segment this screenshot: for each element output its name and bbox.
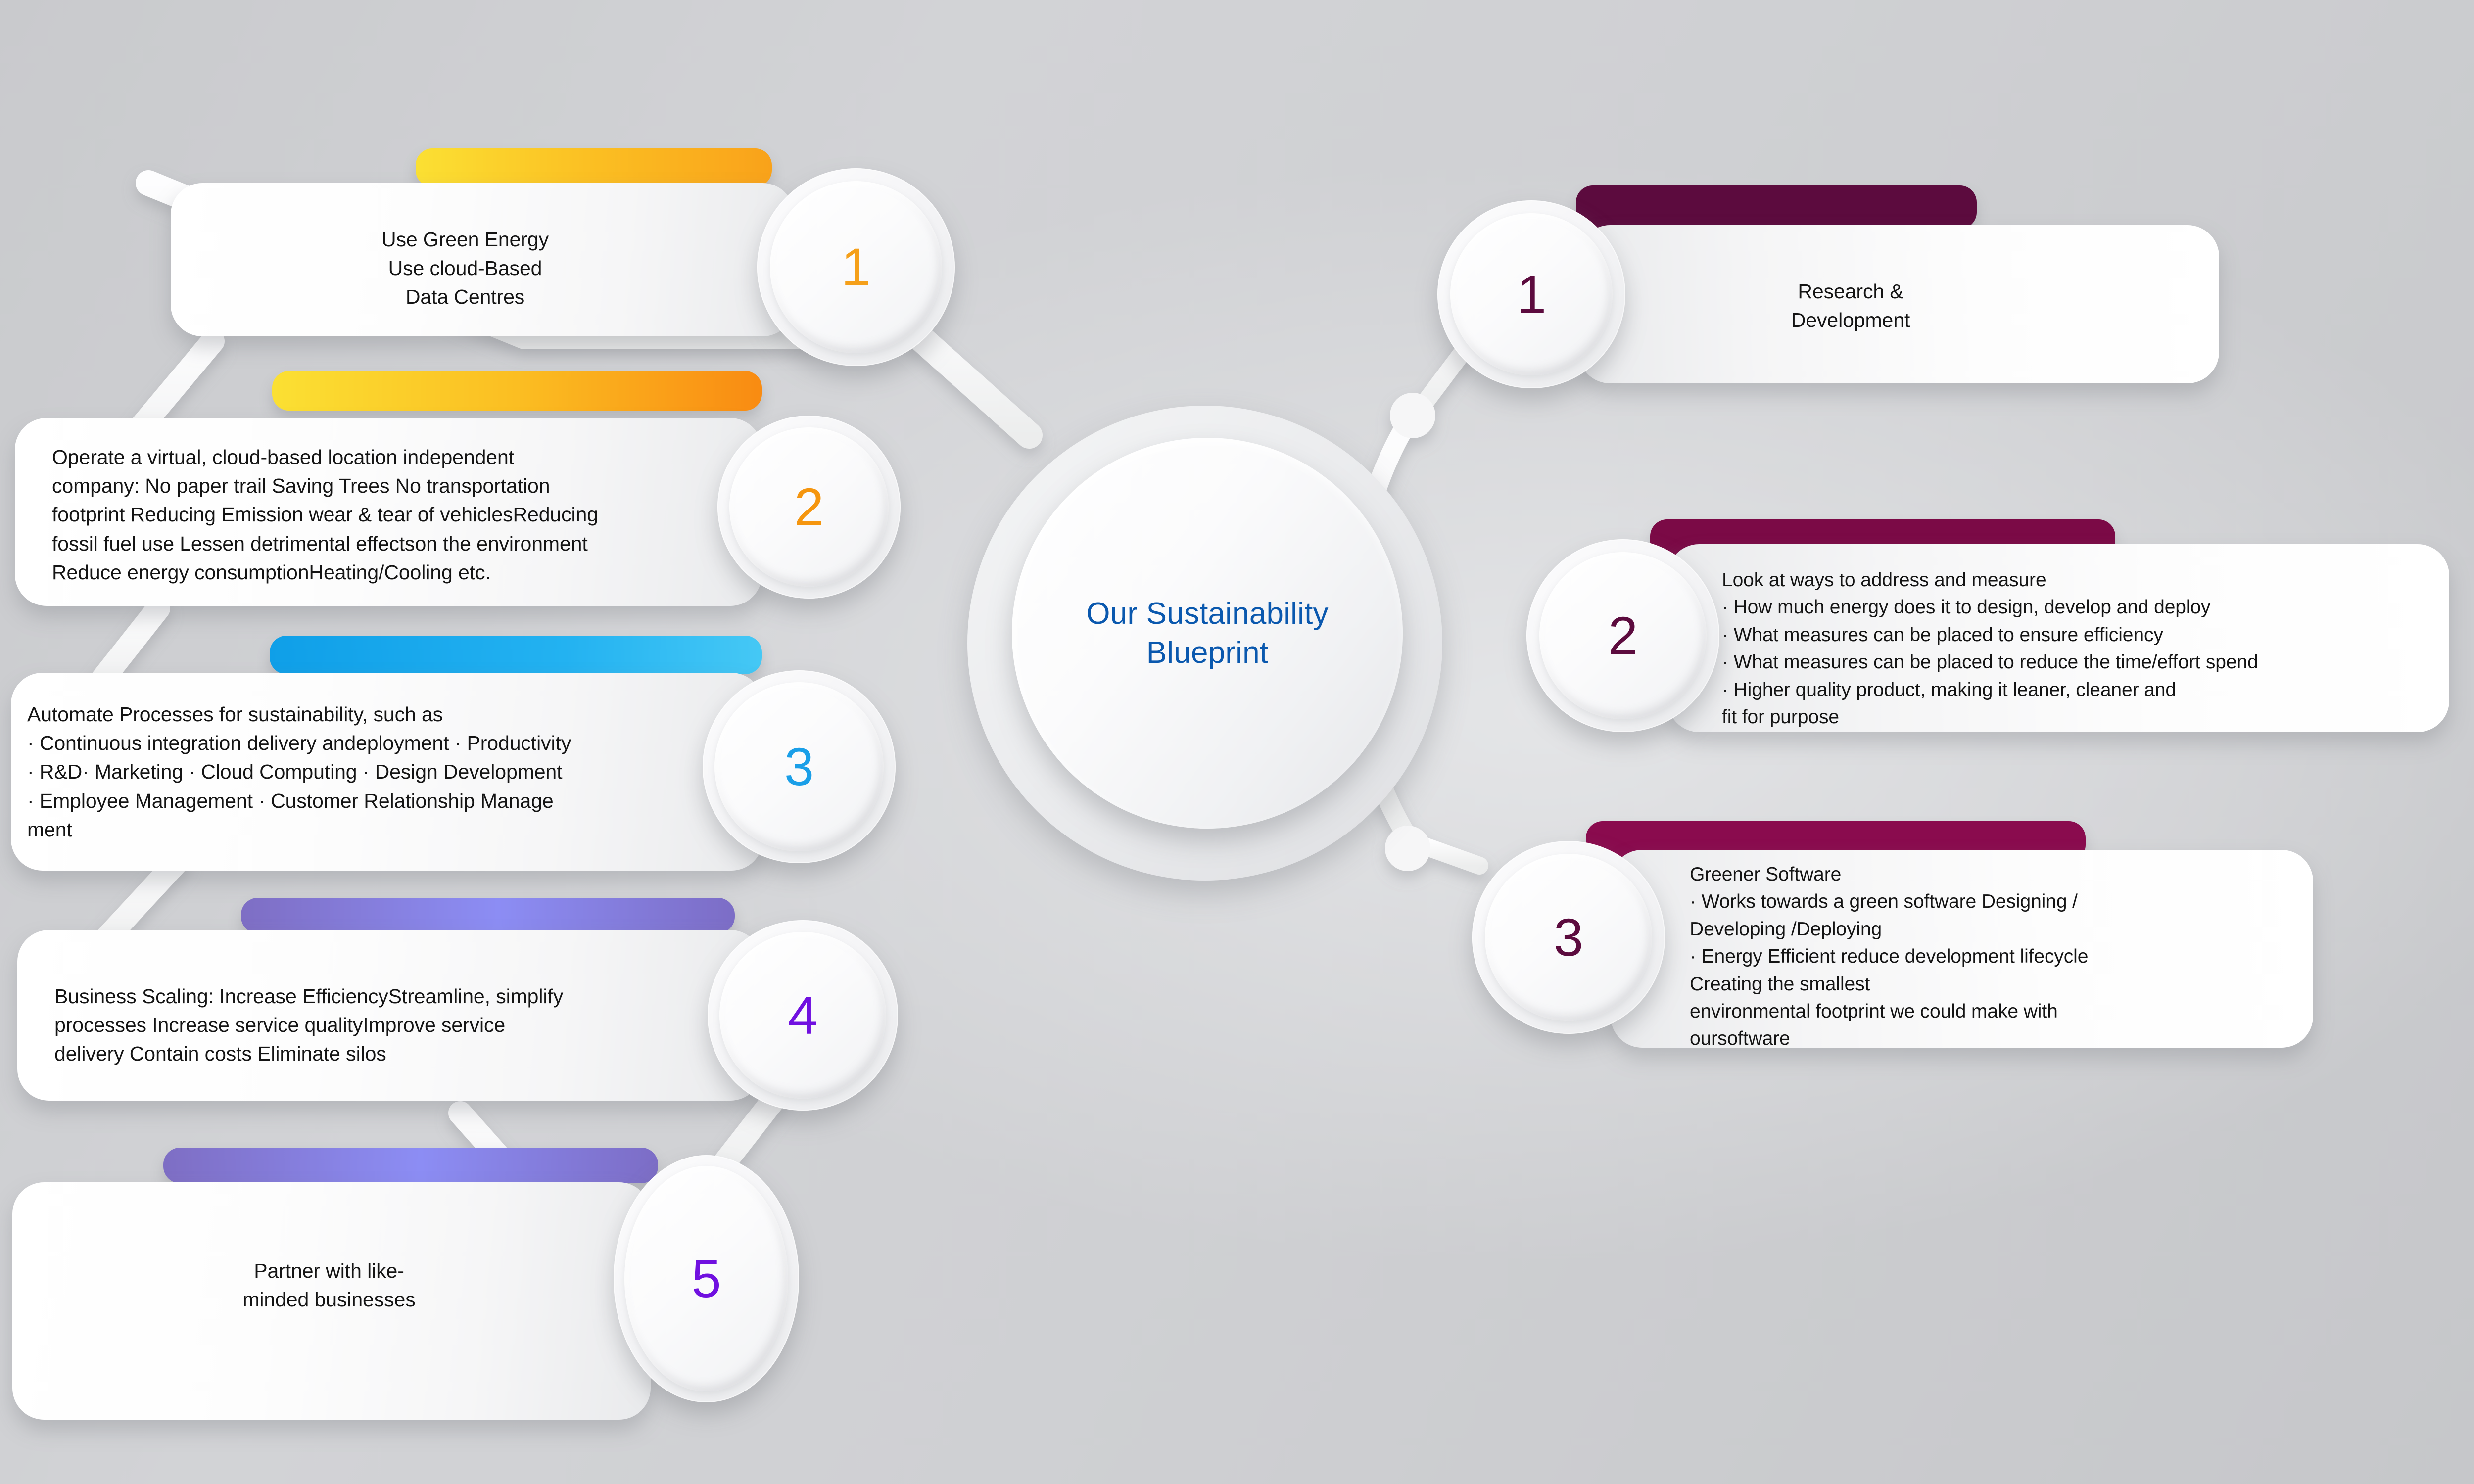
right-bubble-2-number: 2	[1608, 609, 1638, 662]
left-bubble-5[interactable]: 5	[614, 1155, 799, 1402]
right-card-3-text: Greener Software · Works towards a green…	[1690, 861, 2313, 1053]
left-bubble-2[interactable]: 2	[717, 416, 901, 599]
center-hub[interactable]: Our Sustainability Blueprint	[1012, 438, 1403, 829]
left-bar-3	[270, 636, 762, 674]
left-bubble-4-number: 4	[788, 989, 817, 1042]
left-bubble-3[interactable]: 3	[703, 670, 896, 863]
right-bubble-1[interactable]: 1	[1437, 200, 1625, 388]
right-card-1-text: Research & Development	[1613, 277, 2088, 334]
left-bar-4	[241, 898, 735, 933]
right-card-2-text: Look at ways to address and measure · Ho…	[1722, 566, 2449, 731]
left-card-3-text: Automate Processes for sustainability, s…	[27, 700, 750, 844]
right-bubble-1-number: 1	[1517, 268, 1546, 321]
right-bubble-3-number: 3	[1554, 911, 1583, 964]
center-title: Our Sustainability Blueprint	[1049, 594, 1366, 673]
left-card-2-text: Operate a virtual, cloud-based location …	[52, 443, 755, 587]
right-bar-1	[1576, 185, 1977, 229]
infographic-canvas: Use Green Energy Use cloud-Based Data Ce…	[0, 0, 2474, 1484]
right-bubble-2[interactable]: 2	[1526, 539, 1719, 732]
left-card-5-text: Partner with like- minded businesses	[42, 1256, 616, 1314]
left-bubble-1[interactable]: 1	[757, 168, 955, 366]
left-bubble-4[interactable]: 4	[708, 920, 898, 1111]
left-card-1-text: Use Green Energy Use cloud-Based Data Ce…	[218, 225, 713, 312]
left-bubble-5-number: 5	[691, 1252, 721, 1305]
left-bar-2	[272, 371, 762, 411]
left-card-4-text: Business Scaling: Increase EfficiencyStr…	[54, 982, 747, 1068]
left-bubble-2-number: 2	[794, 480, 824, 534]
left-bubble-3-number: 3	[784, 740, 814, 793]
right-bubble-3[interactable]: 3	[1472, 841, 1665, 1034]
left-bubble-1-number: 1	[841, 240, 871, 294]
left-bar-5	[163, 1148, 658, 1183]
left-bar-1	[416, 148, 772, 187]
